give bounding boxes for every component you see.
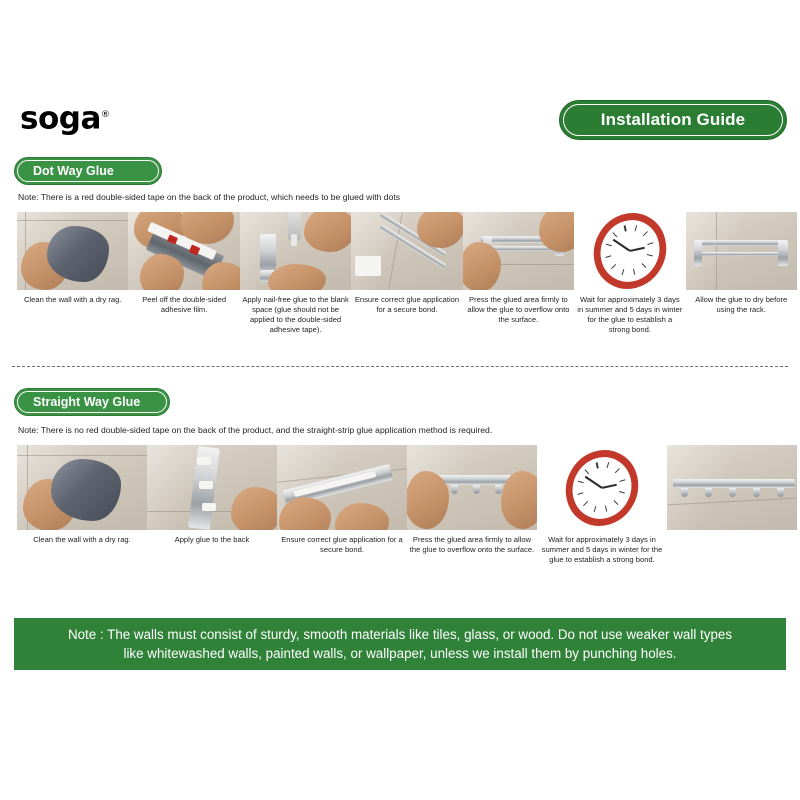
step-caption: Apply glue to the back [173, 535, 252, 545]
footer-warning-note: Note : The walls must consist of sturdy,… [14, 618, 786, 670]
step-item: Press the glued area firmly to allow the… [407, 445, 537, 565]
clean-wall-with-rag-photo [17, 212, 128, 290]
section-pill-dot-way-glue: Dot Way Glue [14, 157, 162, 185]
glue-spot [202, 503, 216, 511]
clock-waiting-time-graphic [537, 445, 667, 530]
step-item: Press the glued area firmly to allow the… [463, 212, 574, 335]
clean-wall-with-rag-photo [17, 445, 147, 530]
hand-shape [140, 254, 184, 290]
hand-shape [463, 242, 501, 290]
press-glued-area-photo [407, 445, 537, 530]
step-caption: Ensure correct glue application for a se… [351, 295, 462, 315]
step-item: Ensure correct glue application for a se… [351, 212, 462, 335]
rag-shape [47, 226, 109, 282]
hook [753, 488, 760, 497]
registered-trademark-icon: ® [101, 110, 110, 120]
grout-line [17, 220, 128, 221]
clock-icon [559, 445, 645, 530]
ensure-correct-glue-photo [277, 445, 407, 530]
rack-rail [694, 240, 788, 246]
hook [681, 488, 688, 497]
hand-shape [501, 471, 537, 529]
hook [495, 485, 502, 494]
step-caption: Allow the glue to dry before using the r… [686, 295, 797, 315]
step-caption: Clean the wall with a dry rag. [31, 535, 133, 545]
section-divider [12, 366, 788, 367]
hand-shape [268, 264, 326, 290]
installation-guide-badge: Installation Guide [559, 100, 787, 140]
hook [777, 488, 784, 497]
glue-nozzle [291, 234, 297, 246]
mounted-towel-rack-photo [686, 212, 797, 290]
apply-glue-to-back-photo [147, 445, 277, 530]
step-item: Wait for approximately 3 days in summer … [574, 212, 685, 335]
hook [705, 488, 712, 497]
installation-guide-label: Installation Guide [601, 110, 745, 130]
grout-line [716, 212, 717, 290]
step-item: Ensure correct glue application for a se… [277, 445, 407, 565]
glue-spot [197, 457, 211, 465]
section-note-dot-way-glue: Note: There is a red double-sided tape o… [18, 192, 400, 202]
mounted-hook-rail-photo [667, 445, 797, 530]
steps-row-dot-way-glue: Clean the wall with a dry rag. Peel off … [17, 212, 797, 335]
step-caption: Apply nail-free glue to the blank space … [240, 295, 351, 335]
clock-hour-hand [630, 247, 645, 252]
rack-bracket [778, 240, 788, 266]
hand-shape [304, 212, 351, 252]
step-caption: Peel off the double-sided adhesive film. [128, 295, 239, 315]
glue-spot [199, 481, 213, 489]
steps-row-straight-way-glue: Clean the wall with a dry rag. Apply glu… [17, 445, 797, 565]
rag-shape [51, 459, 121, 521]
section-pill-label: Straight Way Glue [33, 395, 140, 409]
peel-adhesive-film-photo [128, 212, 239, 290]
hand-shape [231, 487, 277, 530]
rack-bracket [694, 240, 702, 266]
footer-note-line-1: Note : The walls must consist of sturdy,… [68, 625, 732, 644]
soga-logo: soga® [20, 98, 109, 135]
page-header: soga® Installation Guide [0, 96, 800, 148]
hand-shape [417, 212, 462, 248]
apply-nail-free-glue-photo [240, 212, 351, 290]
clock-icon [587, 212, 673, 290]
step-item [667, 445, 797, 565]
step-item: Peel off the double-sided adhesive film. [128, 212, 239, 335]
step-caption: Ensure correct glue application for a se… [277, 535, 407, 555]
white-bracket [355, 256, 381, 276]
clock-waiting-time-graphic [574, 212, 685, 290]
step-item: Clean the wall with a dry rag. [17, 212, 128, 335]
clock-hour-hand [602, 483, 617, 488]
press-glued-area-photo [463, 212, 574, 290]
step-caption: Clean the wall with a dry rag. [22, 295, 124, 305]
footer-note-line-2: like whitewashed walls, painted walls, o… [123, 644, 676, 663]
soga-logo-text: soga [20, 100, 101, 136]
section-note-straight-way-glue: Note: There is no red double-sided tape … [18, 425, 492, 435]
ensure-correct-glue-photo [351, 212, 462, 290]
hook [451, 485, 458, 494]
clock-background [574, 212, 685, 290]
installation-guide-page: soga® Installation Guide Dot Way Glue No… [0, 0, 800, 800]
grout-line [17, 455, 147, 456]
step-caption: Wait for approximately 3 days in summer … [574, 295, 685, 335]
section-pill-straight-way-glue: Straight Way Glue [14, 388, 170, 416]
section-pill-label: Dot Way Glue [33, 164, 114, 178]
step-item: Clean the wall with a dry rag. [17, 445, 147, 565]
step-item: Allow the glue to dry before using the r… [686, 212, 797, 335]
step-caption: Press the glued area firmly to allow the… [407, 535, 537, 555]
step-item: Apply glue to the back [147, 445, 277, 565]
hook [473, 485, 480, 494]
clock-minute-hand [613, 239, 631, 252]
hook-rail-strip [673, 479, 795, 488]
clock-background [537, 445, 667, 530]
hook [729, 488, 736, 497]
step-item: Wait for approximately 3 days in summer … [537, 445, 667, 565]
step-caption: Wait for approximately 3 days in summer … [537, 535, 667, 565]
clock-minute-hand [585, 476, 603, 489]
step-item: Apply nail-free glue to the blank space … [240, 212, 351, 335]
rack-rail [698, 252, 784, 256]
step-caption: Press the glued area firmly to allow the… [463, 295, 574, 325]
